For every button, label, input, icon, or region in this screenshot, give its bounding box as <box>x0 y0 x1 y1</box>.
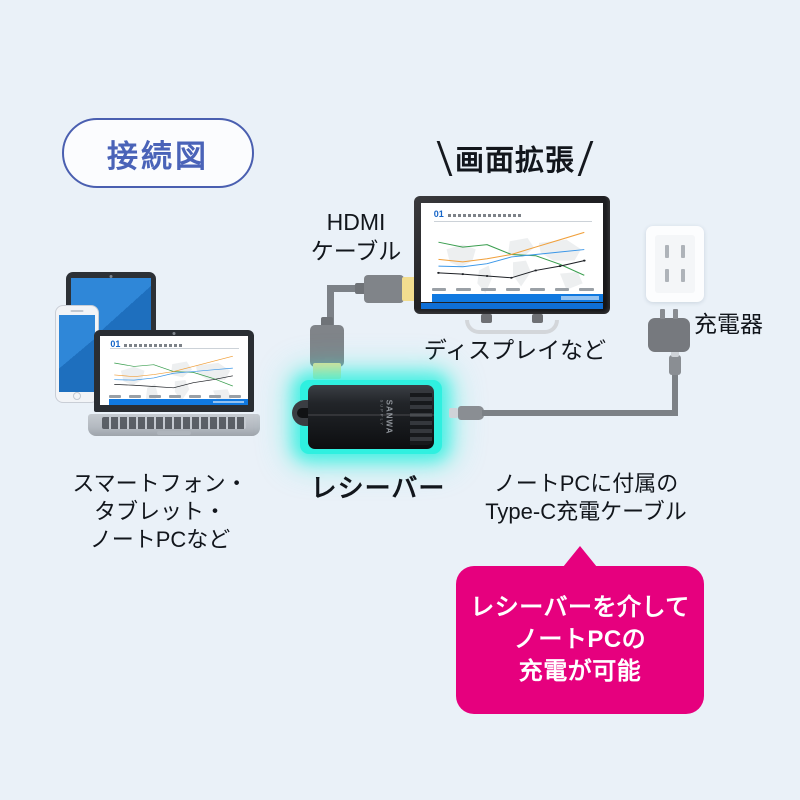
outlet-slot-icon <box>665 269 669 282</box>
devices-label-line2: タブレット・ <box>52 498 268 526</box>
laptop-chart <box>109 351 241 394</box>
display-monitor: 01 <box>414 196 610 314</box>
section-badge-label: 接続図 <box>107 131 209 176</box>
outlet-slot-icon <box>665 245 669 258</box>
display-label: ディスプレイなど <box>412 336 618 365</box>
typec-cable-label-line1: ノートPCに付属の <box>460 470 712 498</box>
monitor-slide-header: 01 <box>434 209 592 222</box>
screen-extension-label: 画面拡張 <box>455 137 575 179</box>
monitor-chart-xaxis <box>432 285 594 293</box>
callout-line2: ノートPCの <box>514 624 646 656</box>
receiver-body: SANWA SUPPLY <box>308 385 434 449</box>
hdmi-connector-right <box>364 275 404 303</box>
hdmi-connector-down <box>310 325 344 367</box>
typec-cable-horizontal-segment <box>482 410 678 416</box>
connection-diagram-stage: 接続図 画面拡張 01 <box>0 0 800 800</box>
monitor-stand <box>465 320 559 334</box>
ac-charger <box>648 318 690 352</box>
laptop-camera-icon <box>173 332 176 335</box>
typec-cable-vertical-segment <box>672 372 678 414</box>
laptop-chart-xaxis <box>109 393 241 399</box>
laptop-slide-subtitle <box>124 344 183 347</box>
laptop-base <box>88 414 260 436</box>
screen-extension-heading: 画面拡張 <box>408 134 622 182</box>
decorative-slash-left-icon <box>437 141 453 176</box>
wall-outlet <box>646 226 704 302</box>
monitor-bottom-bar <box>421 303 603 309</box>
monitor-screen: 01 <box>421 203 603 302</box>
hdmi-cable-label-line1: HDMI <box>292 208 420 237</box>
monitor-slide-subtitle <box>448 214 521 217</box>
monitor-slide-footer <box>432 294 603 302</box>
hdmi-connector-down-contacts <box>313 363 341 379</box>
callout-line1: レシーバーを介して <box>470 592 690 624</box>
charger-prong-icon <box>660 309 665 319</box>
tablet-camera-icon <box>110 275 113 278</box>
typec-cable-label: ノートPCに付属の Type-C充電ケーブル <box>460 470 712 526</box>
charger-label: 充電器 <box>694 310 794 339</box>
laptop-slide-footer <box>109 399 248 405</box>
laptop-screen: 01 <box>100 336 248 405</box>
outlet-slot-icon <box>681 245 685 258</box>
decorative-slash-right-icon <box>578 141 594 176</box>
laptop-slide: 01 <box>100 336 248 405</box>
receiver-ridges <box>410 389 432 445</box>
callout-pointer-icon <box>563 546 597 567</box>
callout-line3: 充電が可能 <box>519 656 642 688</box>
laptop-lid: 01 <box>94 330 254 412</box>
laptop-slide-header: 01 <box>110 340 239 349</box>
laptop-slide-number: 01 <box>110 340 120 349</box>
devices-label: スマートフォン・ タブレット・ ノートPCなど <box>52 470 268 554</box>
typec-cable-plug <box>458 406 484 420</box>
typec-cable-charger-plug <box>669 355 681 375</box>
monitor-slide: 01 <box>421 203 603 302</box>
laptop-trackpad <box>157 431 191 435</box>
devices-label-line3: ノートPCなど <box>52 526 268 554</box>
monitor-chart <box>432 225 594 286</box>
hdmi-cable-label: HDMI ケーブル <box>292 208 420 267</box>
laptop-keyboard <box>102 417 246 429</box>
phone-speaker-icon <box>71 310 84 312</box>
hdmi-cable-label-line2: ケーブル <box>292 237 420 266</box>
typec-cable-label-line2: Type-C充電ケーブル <box>460 498 712 526</box>
callout-bubble: レシーバーを介して ノートPCの 充電が可能 <box>456 566 704 714</box>
phone-home-button-icon <box>73 392 81 400</box>
outlet-slot-icon <box>681 269 685 282</box>
receiver-device: SANWA SUPPLY <box>296 378 446 456</box>
monitor-bezel: 01 <box>414 196 610 314</box>
laptop-device: 01 <box>88 330 260 436</box>
receiver-label: レシーバー <box>290 472 466 505</box>
monitor-slide-number: 01 <box>434 210 444 219</box>
charger-prong-icon <box>673 309 678 319</box>
section-badge: 接続図 <box>62 118 254 188</box>
devices-label-line1: スマートフォン・ <box>52 470 268 498</box>
monitor-chart-lines <box>432 225 594 286</box>
wall-outlet-face <box>655 235 695 293</box>
laptop-chart-lines <box>109 351 241 394</box>
receiver-brand-logo: SANWA SUPPLY <box>380 400 394 435</box>
